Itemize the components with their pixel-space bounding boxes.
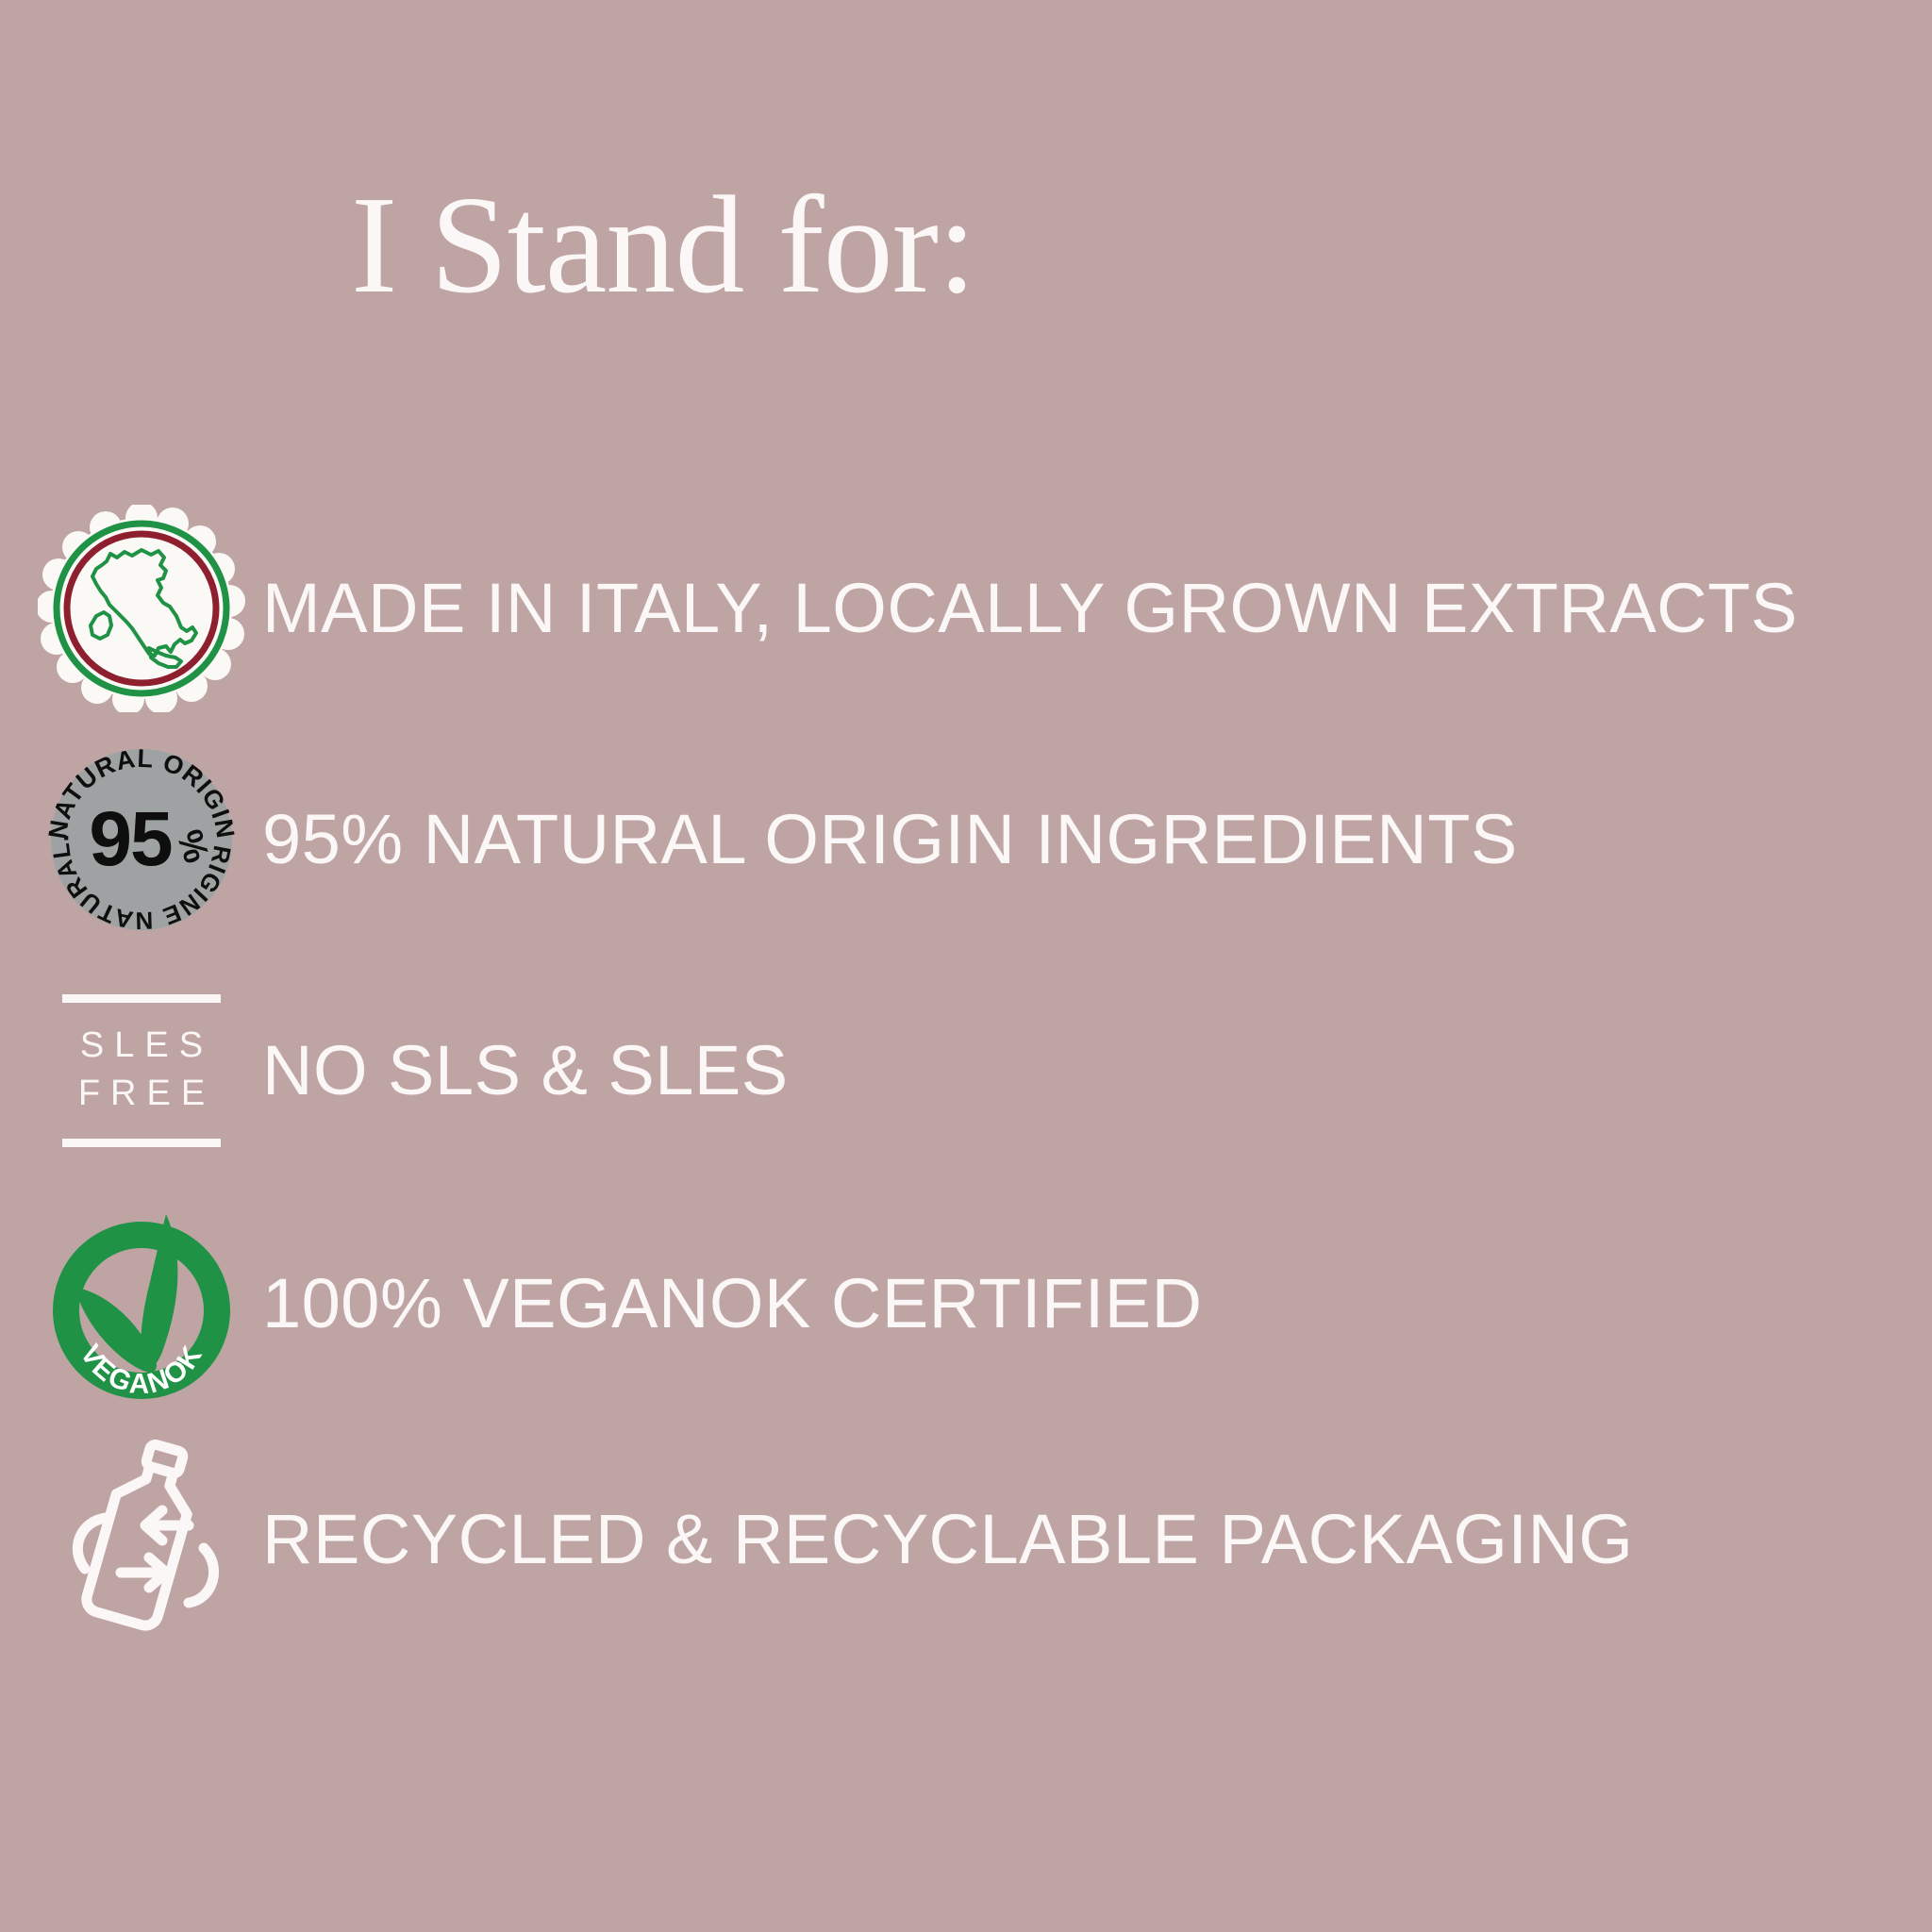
claim-row-made-in-italy: MADE IN ITALY, LOCALLY GROWN EXTRACTS bbox=[0, 495, 1932, 722]
icon-cell-sles-free: SLES FREE bbox=[0, 958, 283, 1184]
claim-label-natural-origin: 95% NATURAL ORIGIN INGREDIENTS bbox=[262, 804, 1518, 875]
recycled-bottle-icon bbox=[38, 1431, 245, 1648]
icon-cell-veganok: VEGANOK bbox=[0, 1191, 283, 1417]
veganok-logo-icon: VEGANOK bbox=[42, 1205, 241, 1403]
claim-label-veganok: 100% VEGANOK CERTIFIED bbox=[262, 1268, 1203, 1340]
badge-dot: · bbox=[62, 823, 72, 854]
sles-line-1: SLES bbox=[68, 1022, 215, 1070]
claim-row-natural-origin: NATURAL ORIGIN ORIGINE NATURALE · 95 % 9… bbox=[0, 726, 1932, 953]
stand-for-infographic: I Stand for: bbox=[0, 0, 1932, 1932]
made-in-italy-badge-icon bbox=[38, 505, 245, 712]
claim-label-made-in-italy: MADE IN ITALY, LOCALLY GROWN EXTRACTS bbox=[262, 573, 1798, 644]
icon-cell-recycled-packaging bbox=[0, 1426, 283, 1653]
sles-line-2: FREE bbox=[68, 1070, 215, 1118]
badge-value: 95 bbox=[89, 796, 172, 882]
sles-top-rule bbox=[62, 994, 221, 1003]
claim-row-sles-free: SLES FREE NO SLS & SLES bbox=[0, 958, 1932, 1184]
icon-cell-made-in-italy bbox=[0, 495, 283, 722]
sles-free-badge-icon: SLES FREE bbox=[62, 994, 221, 1148]
bottle-body bbox=[84, 1459, 197, 1628]
claim-row-recycled-packaging: RECYCLED & RECYCLABLE PACKAGING bbox=[0, 1426, 1932, 1653]
sles-words: SLES FREE bbox=[68, 1018, 215, 1124]
claim-label-recycled-packaging: RECYCLED & RECYCLABLE PACKAGING bbox=[262, 1504, 1633, 1575]
icon-cell-natural-origin: NATURAL ORIGIN ORIGINE NATURALE · 95 % bbox=[0, 726, 283, 953]
page-title: I Stand for: bbox=[351, 175, 975, 315]
claim-row-veganok: VEGANOK 100% VEGANOK CERTIFIED bbox=[0, 1191, 1932, 1417]
claim-label-sles-free: NO SLS & SLES bbox=[262, 1035, 789, 1107]
sles-bottom-rule bbox=[62, 1139, 221, 1147]
natural-origin-95-badge-icon: NATURAL ORIGIN ORIGINE NATURALE · 95 % bbox=[47, 745, 236, 934]
